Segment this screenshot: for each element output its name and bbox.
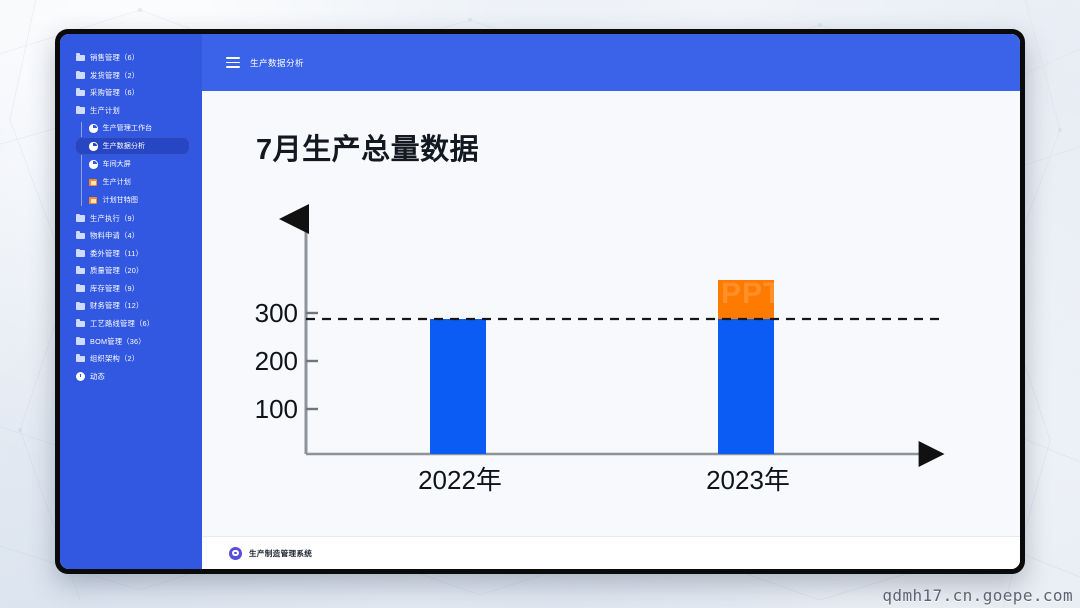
folder-icon (76, 337, 85, 346)
pie-chart-icon (89, 124, 98, 133)
folder-open-icon (76, 106, 85, 115)
x-tick-label-2023: 2023年 (706, 465, 790, 495)
sidebar-subitem-production-workbench[interactable]: 生产管理工作台 (75, 119, 190, 137)
brand-footer: 生产制造管理系统 (202, 536, 1020, 569)
sidebar-subitem-label: 生产数据分析 (103, 143, 146, 150)
circle-target-logo (229, 547, 242, 560)
calendar-icon (89, 196, 98, 205)
sidebar-nav-list: 销售管理（6） 发货管理（2） 采购管理（6） 生产计划 (60, 34, 202, 569)
sidebar-item-label: 财务管理（12） (90, 302, 144, 309)
sidebar-item-label: 组织架构（2） (90, 355, 139, 362)
folder-icon (76, 266, 85, 275)
sidebar-subitem-label: 生产计划 (103, 179, 131, 186)
y-tick-label-300: 300 (255, 298, 298, 328)
sidebar-item-label: BOM管理（36） (90, 338, 146, 345)
sidebar-item-bom[interactable]: BOM管理（36） (60, 333, 202, 351)
sidebar-item-production-exec[interactable]: 生产执行（9） (60, 209, 202, 227)
app-screen: 销售管理（6） 发货管理（2） 采购管理（6） 生产计划 (60, 34, 1020, 569)
sidebar-subitem-gantt[interactable]: 计划甘特图 (75, 191, 190, 209)
sidebar-item-org-structure[interactable]: 组织架构（2） (60, 350, 202, 368)
sidebar-item-label: 发货管理（2） (90, 72, 139, 79)
sidebar-item-material-request[interactable]: 物料申请（4） (60, 227, 202, 245)
page-title: 生产数据分析 (250, 57, 304, 69)
page-watermark: qdmh17.cn.goepe.com (882, 586, 1073, 605)
sidebar-subitem-label: 生产管理工作台 (103, 125, 153, 132)
x-tick-label-2022: 2022年 (418, 465, 502, 495)
folder-icon (76, 88, 85, 97)
sidebar-item-inventory[interactable]: 库存管理（9） (60, 280, 202, 298)
sidebar-item-quality[interactable]: 质量管理（20） (60, 262, 202, 280)
sidebar-item-label: 物料申请（4） (90, 232, 139, 239)
folder-icon (76, 71, 85, 80)
main-region: 生产数据分析 7月生产总量数据 (202, 34, 1020, 569)
pie-chart-icon (89, 142, 98, 151)
top-bar: 生产数据分析 (202, 34, 1020, 91)
folder-icon (76, 53, 85, 62)
hamburger-icon[interactable] (226, 57, 240, 68)
sidebar-item-label: 采购管理（6） (90, 89, 139, 96)
sidebar-item-outsourcing[interactable]: 委外管理（11） (60, 245, 202, 263)
folder-icon (76, 302, 85, 311)
sidebar-item-label: 销售管理（6） (90, 54, 139, 61)
bar-2023-increment (718, 280, 774, 319)
sidebar-subnav: 生产管理工作台 生产数据分析 车间大屏 生产计划 (60, 119, 202, 209)
sidebar-subitem-label: 计划甘特图 (103, 197, 138, 204)
sidebar: 销售管理（6） 发货管理（2） 采购管理（6） 生产计划 (60, 34, 202, 569)
folder-icon (76, 354, 85, 363)
activity-icon (76, 372, 85, 381)
sidebar-subitem-workshop-screen[interactable]: 车间大屏 (75, 155, 190, 173)
sidebar-item-label: 生产计划 (90, 107, 120, 114)
device-frame: 销售管理（6） 发货管理（2） 采购管理（6） 生产计划 (55, 29, 1025, 574)
sidebar-item-production-plan[interactable]: 生产计划 (60, 102, 202, 120)
folder-icon (76, 231, 85, 240)
sidebar-item-shipping[interactable]: 发货管理（2） (60, 67, 202, 85)
sidebar-item-finance[interactable]: 财务管理（12） (60, 297, 202, 315)
sidebar-item-label: 委外管理（11） (90, 250, 143, 257)
y-tick-label-200: 200 (255, 346, 298, 376)
sidebar-subitem-label: 车间大屏 (103, 161, 131, 168)
sidebar-item-label: 动态 (90, 373, 105, 380)
folder-icon (76, 214, 85, 223)
chart-canvas: 300 200 100 2022年 20 (202, 91, 1020, 536)
bar-chart: 300 200 100 2022年 20 (202, 91, 1020, 536)
bar-2023-base (718, 319, 774, 454)
sidebar-item-activity[interactable]: 动态 (60, 368, 202, 386)
brand-name: 生产制造管理系统 (249, 548, 312, 559)
sidebar-subitem-production-schedule[interactable]: 生产计划 (75, 173, 190, 191)
sidebar-item-label: 工艺路线管理（6） (90, 320, 154, 327)
sidebar-item-purchasing[interactable]: 采购管理（6） (60, 84, 202, 102)
folder-icon (76, 284, 85, 293)
sidebar-item-process-route[interactable]: 工艺路线管理（6） (60, 315, 202, 333)
sidebar-item-sales[interactable]: 销售管理（6） (60, 49, 202, 67)
sidebar-item-label: 质量管理（20） (90, 267, 144, 274)
sidebar-item-label: 库存管理（9） (90, 285, 139, 292)
pie-chart-icon (89, 160, 98, 169)
y-tick-label-100: 100 (255, 394, 298, 424)
content-area: 7月生产总量数据 (202, 91, 1020, 536)
bar-2022-base (430, 319, 486, 454)
sidebar-subitem-production-analysis[interactable]: 生产数据分析 (75, 137, 190, 155)
sidebar-item-label: 生产执行（9） (90, 215, 139, 222)
calendar-icon (89, 178, 98, 187)
folder-icon (76, 319, 85, 328)
folder-icon (76, 249, 85, 258)
screenshot-stage: 销售管理（6） 发货管理（2） 采购管理（6） 生产计划 (0, 0, 1080, 608)
